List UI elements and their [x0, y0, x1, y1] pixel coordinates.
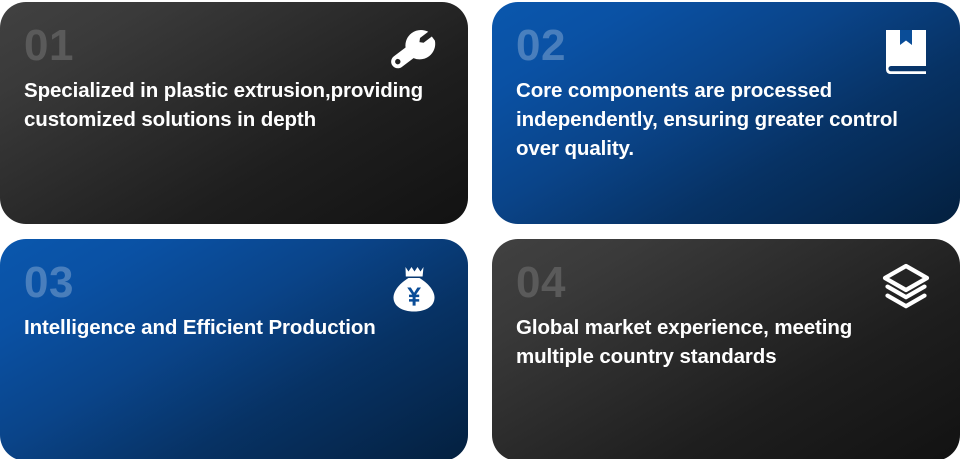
card-number: 01	[24, 24, 442, 68]
feature-card-04[interactable]: 04 Global market experience, meeting mul…	[492, 239, 960, 459]
feature-card-02[interactable]: 02 Core components are processed indepen…	[492, 2, 960, 224]
card-text: Intelligence and Efficient Production	[24, 313, 404, 342]
money-bag-yen-icon	[386, 261, 442, 317]
card-number: 02	[516, 24, 934, 68]
wrench-icon	[386, 24, 442, 80]
feature-card-03[interactable]: 03 Intelligence and Efficient Production	[0, 239, 468, 459]
layers-stack-icon	[878, 261, 934, 317]
book-bookmark-icon	[878, 24, 934, 80]
card-text: Global market experience, meeting multip…	[516, 313, 906, 371]
card-text: Core components are processed independen…	[516, 76, 934, 163]
feature-card-grid: 01 Specialized in plastic extrusion,prov…	[0, 0, 960, 459]
card-number: 04	[516, 261, 934, 305]
card-number: 03	[24, 261, 442, 305]
feature-card-01[interactable]: 01 Specialized in plastic extrusion,prov…	[0, 2, 468, 224]
card-text: Specialized in plastic extrusion,providi…	[24, 76, 442, 134]
